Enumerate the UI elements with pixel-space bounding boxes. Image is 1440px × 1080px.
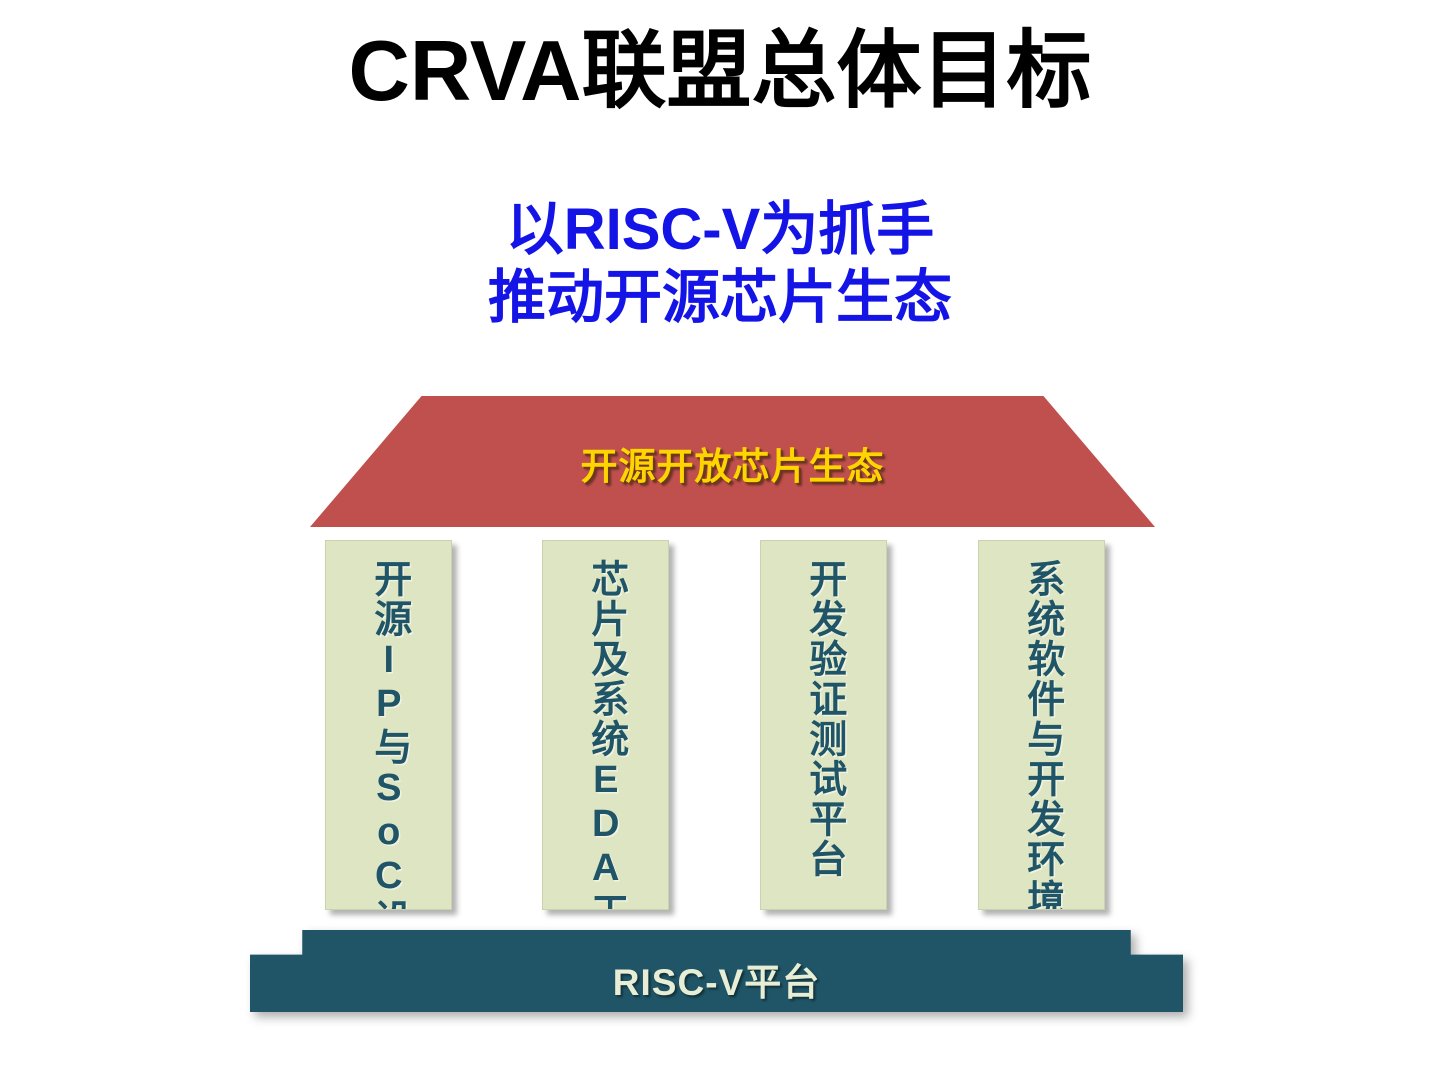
temple-base: RISC-V平台 [250, 930, 1183, 1012]
pillar-2-label: 芯片及系统EDA工具 [584, 559, 627, 910]
temple-diagram: 开源开放芯片生态 开源IP与SoC设计 芯片及系统EDA工具 开发验证测试平台 … [0, 0, 1440, 1080]
slide-canvas: CRVA联盟总体目标 以RISC-V为抓手 推动开源芯片生态 开源开放芯片生态 … [0, 0, 1440, 1080]
base-label: RISC-V平台 [250, 952, 1183, 1006]
pillar-4-label: 系统软件与开发环境 [1020, 559, 1063, 910]
temple-pillar-2: 芯片及系统EDA工具 [542, 540, 669, 910]
pillar-1-label: 开源IP与SoC设计 [367, 559, 410, 910]
temple-pillar-1: 开源IP与SoC设计 [325, 540, 452, 910]
temple-pillar-3: 开发验证测试平台 [760, 540, 887, 910]
roof-label: 开源开放芯片生态 [310, 436, 1155, 490]
temple-roof: 开源开放芯片生态 [310, 396, 1155, 527]
temple-pillar-4: 系统软件与开发环境 [978, 540, 1105, 910]
pillar-3-label: 开发验证测试平台 [802, 559, 845, 879]
